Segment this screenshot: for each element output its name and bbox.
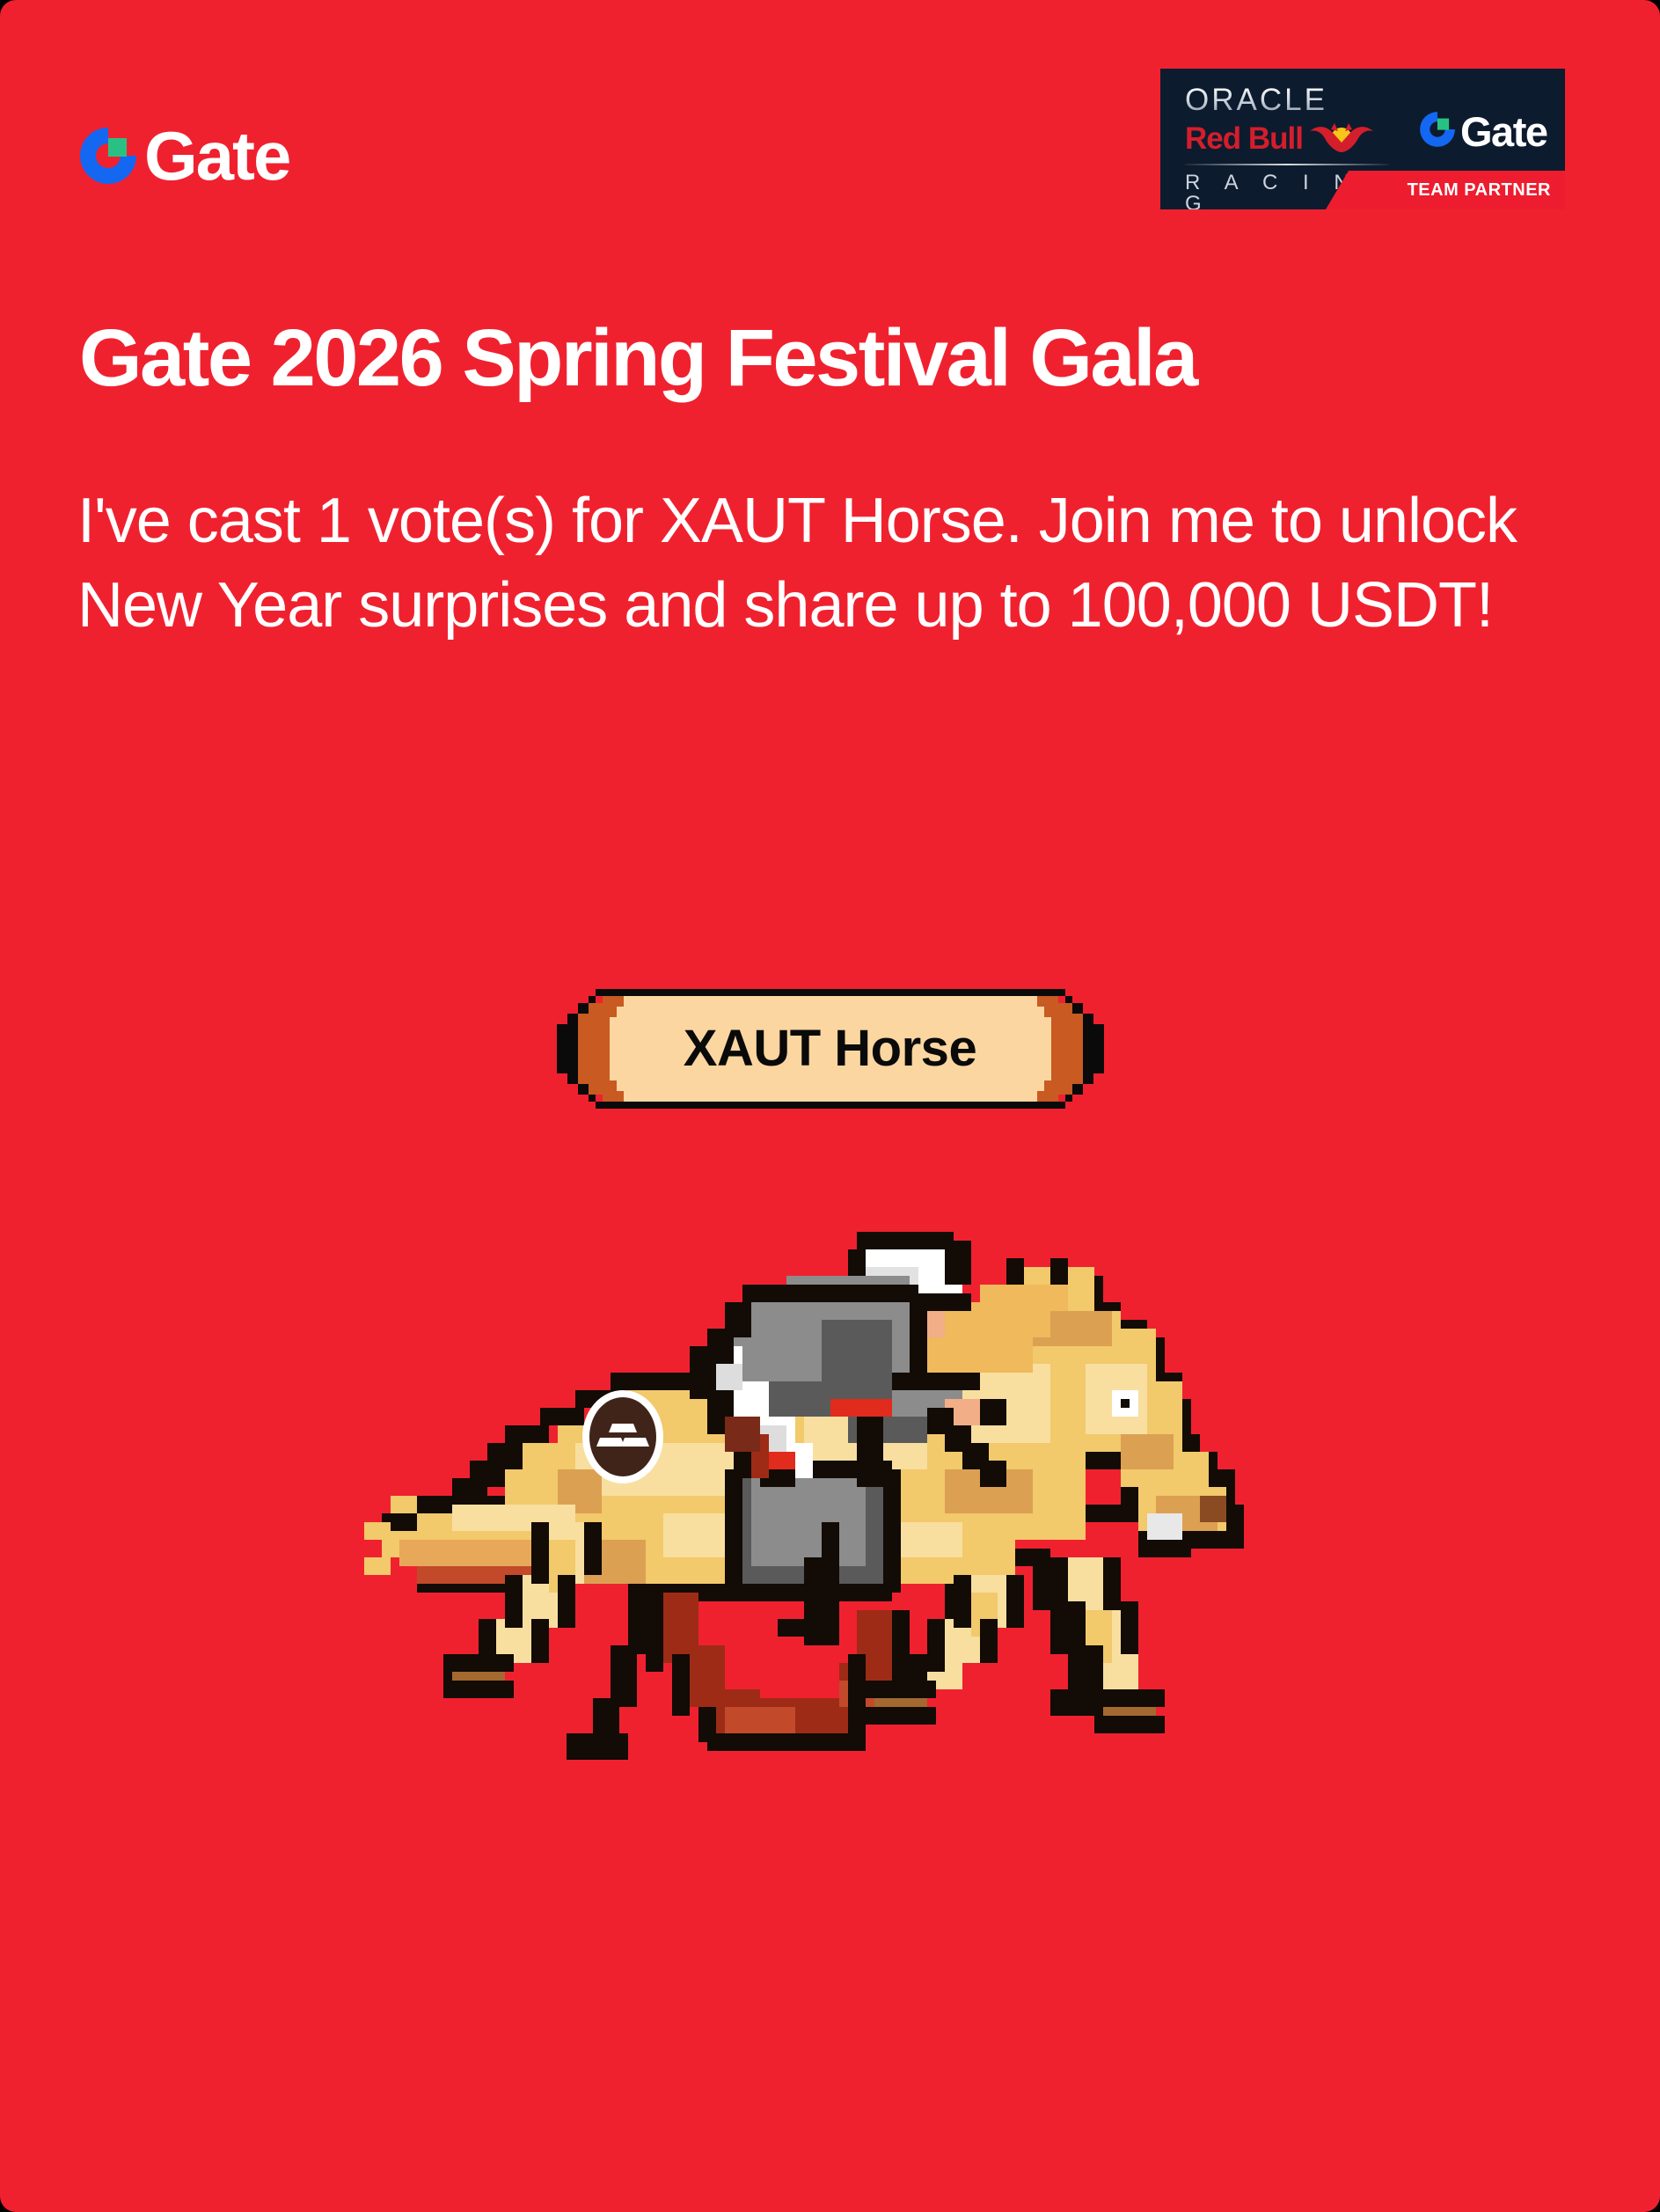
red-bull-icon [1308,119,1375,158]
gate-brand-logo[interactable]: Gate [76,121,289,190]
team-partner-strip: TEAM PARTNER [1326,171,1565,209]
card-header: Gate ORACLE Red Bull [0,0,1660,238]
page-title: Gate 2026 Spring Festival Gala [79,315,1572,402]
oracle-red-bull-racing-partner-badge: ORACLE Red Bull R A C I N G [1160,69,1565,209]
pixel-racehorse-icon [364,1205,1297,1769]
gold-bars-icon [581,1388,665,1485]
share-message: I've cast 1 vote(s) for XAUT Horse. Join… [77,480,1591,648]
oracle-wordmark: ORACLE [1185,84,1392,115]
partner-gate-wordmark: Gate [1460,111,1547,152]
team-partner-label: TEAM PARTNER [1408,180,1551,201]
horse-scene [0,1205,1660,1769]
partner-gate-logo: Gate [1417,109,1547,154]
horse-name-label: XAUT Horse [546,978,1115,1119]
horse-name-plate-container: XAUT Horse [0,978,1660,1119]
share-card: Gate ORACLE Red Bull [0,0,1660,2212]
badge-divider [1185,164,1389,165]
gate-wordmark: Gate [144,121,289,190]
gate-logo-icon [76,123,141,188]
gate-logo-icon [1417,109,1458,154]
red-bull-wordmark: Red Bull [1185,123,1303,154]
horse-name-plate: XAUT Horse [546,978,1115,1119]
